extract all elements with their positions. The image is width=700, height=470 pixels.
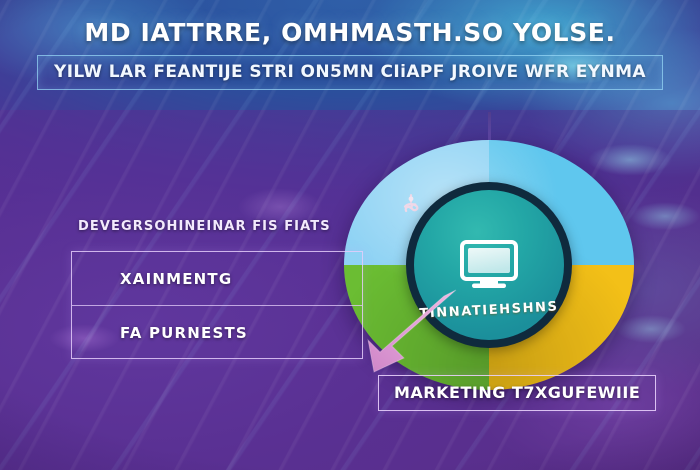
donut-chart: TINNATIEHSHNS <box>344 140 634 390</box>
caption-label: MARKETING T7XGUFEWIIE <box>394 383 640 402</box>
list-item[interactable]: XAINMENTG <box>72 252 362 305</box>
slide-canvas: MD IATTRRE, OMHMASTH.SO YOLSE. YILW LAR … <box>0 0 700 470</box>
ribbon-icon <box>398 192 424 218</box>
panel-heading: DEVEGRSOHINEINAR FIS FIATS <box>78 219 331 234</box>
list-item-label: XAINMENTG <box>120 270 232 288</box>
list-item-label: FA PURNESTS <box>120 324 248 342</box>
list-item[interactable]: FA PURNESTS <box>72 305 362 359</box>
caption-box: MARKETING T7XGUFEWIIE <box>378 375 656 411</box>
page-title: MD IATTRRE, OMHMASTH.SO YOLSE. <box>0 18 700 47</box>
feature-list-panel: XAINMENTG FA PURNESTS <box>71 251 363 359</box>
page-subtitle: YILW LAR FEANTIJE STRI ON5MN CIiAPF JROI… <box>54 62 646 82</box>
monitor-icon <box>459 239 519 291</box>
subtitle-box: YILW LAR FEANTIJE STRI ON5MN CIiAPF JROI… <box>37 55 663 90</box>
header: MD IATTRRE, OMHMASTH.SO YOLSE. YILW LAR … <box>0 18 700 90</box>
